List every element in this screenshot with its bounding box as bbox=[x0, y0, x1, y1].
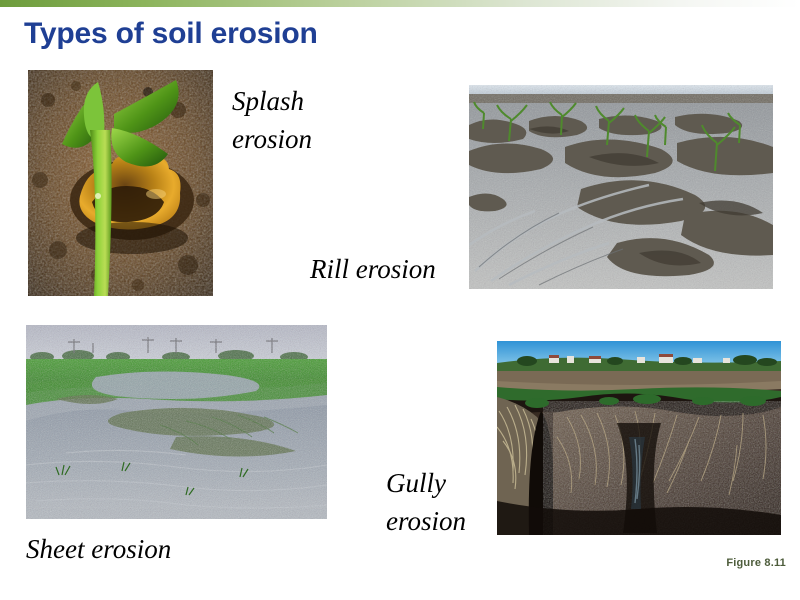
caption-rill-erosion: Rill erosion bbox=[310, 250, 436, 288]
caption-gully-erosion: Gully erosion bbox=[386, 464, 466, 541]
page-title: Types of soil erosion bbox=[24, 17, 318, 51]
figure-number: Figure 8.11 bbox=[726, 557, 786, 569]
photo-gully-erosion bbox=[497, 341, 781, 535]
photo-rill-erosion bbox=[469, 85, 773, 289]
sheet-erosion-image bbox=[26, 325, 327, 519]
caption-sheet-erosion: Sheet erosion bbox=[26, 530, 171, 568]
gully-erosion-image bbox=[497, 341, 781, 535]
slide-canvas: Types of soil erosion bbox=[0, 0, 800, 600]
splash-erosion-image bbox=[28, 70, 213, 296]
accent-top-bar bbox=[0, 0, 800, 7]
rill-erosion-image bbox=[469, 85, 773, 289]
photo-splash-erosion bbox=[28, 70, 213, 296]
caption-splash-erosion: Splash erosion bbox=[232, 82, 312, 159]
photo-sheet-erosion bbox=[26, 325, 327, 519]
